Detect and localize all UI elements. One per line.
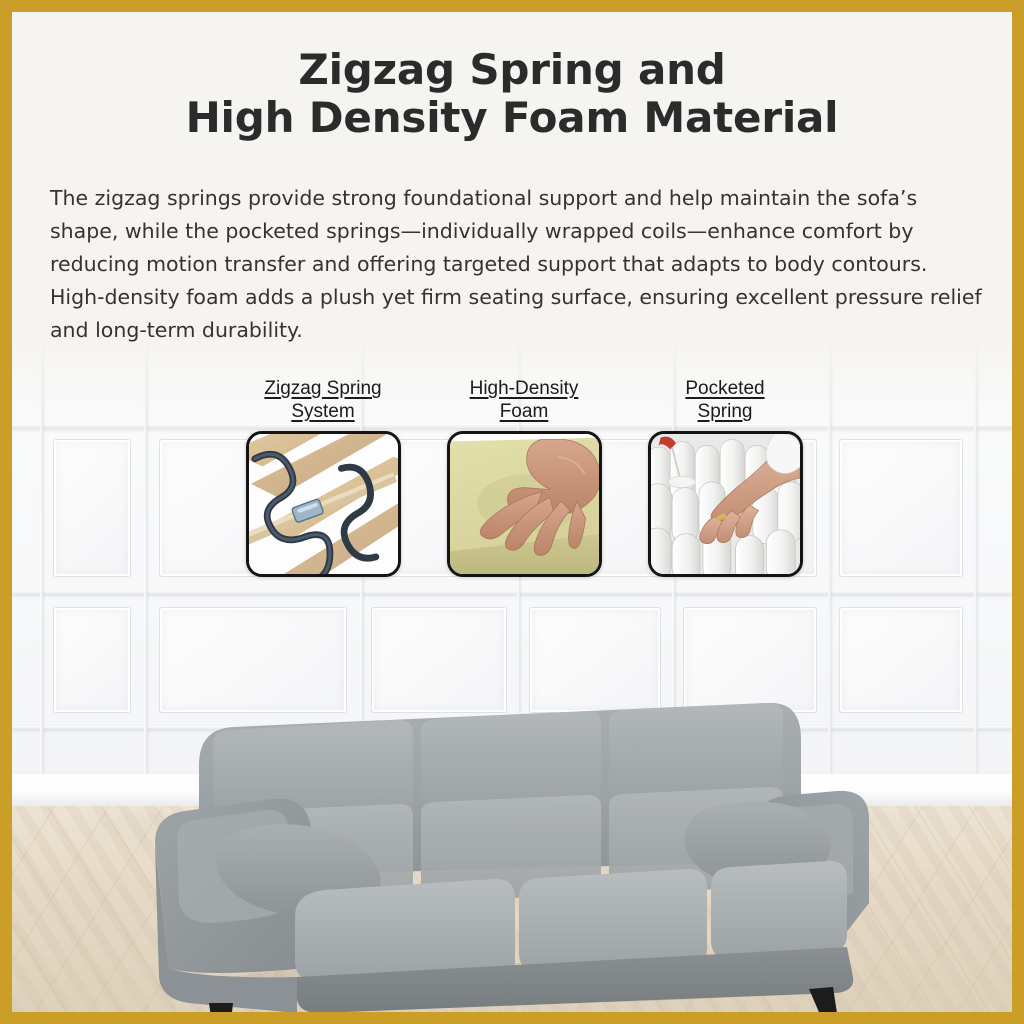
- description-paragraph: The zigzag springs provide strong founda…: [50, 182, 984, 347]
- wall-stile: [974, 322, 977, 774]
- high-density-foam-thumbnail: [447, 431, 602, 577]
- wall-panel: [54, 608, 130, 712]
- title-line-1: Zigzag Spring and: [298, 45, 725, 94]
- feature-label: High-Density Foam: [470, 377, 579, 423]
- wall-stile: [40, 322, 43, 774]
- wall-panel: [54, 440, 130, 576]
- feature-card-row: Zigzag Spring System: [244, 377, 804, 577]
- wall-panel: [840, 440, 962, 576]
- feature-card-zigzag-spring-system: Zigzag Spring System: [244, 377, 402, 577]
- sofa-product-image: [147, 647, 877, 1012]
- wall-rail-middle: [12, 590, 1012, 594]
- feature-card-high-density-foam: High-Density Foam: [445, 377, 603, 577]
- sofa-leg: [209, 1003, 233, 1012]
- page-title: Zigzag Spring and High Density Foam Mate…: [12, 46, 1012, 142]
- feature-label: Pocketed Spring: [685, 377, 764, 423]
- feature-card-pocketed-spring: Pocketed Spring: [646, 377, 804, 577]
- infographic-banner: Zigzag Spring and High Density Foam Mate…: [0, 0, 1024, 1024]
- pocketed-spring-thumbnail: [648, 431, 803, 577]
- zigzag-spring-thumbnail: [246, 431, 401, 577]
- title-line-2: High Density Foam Material: [12, 94, 1012, 142]
- feature-label: Zigzag Spring System: [264, 377, 381, 423]
